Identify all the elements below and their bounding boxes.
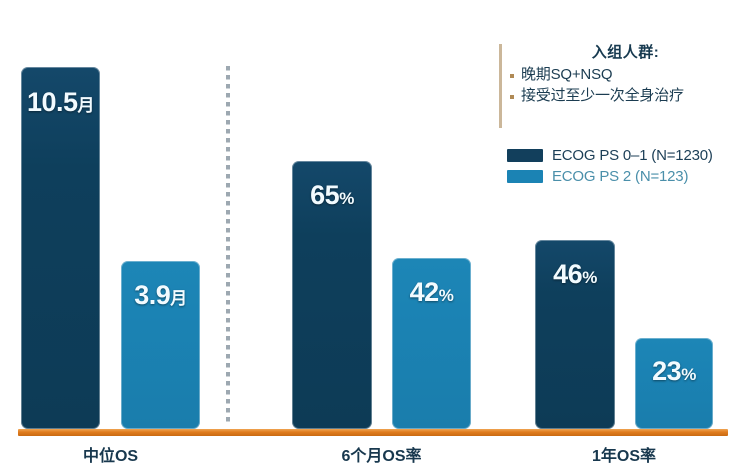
- annotation-bullet-text: 晚期SQ+NSQ: [521, 65, 612, 85]
- legend-item-ps2[interactable]: ECOG PS 2 (N=123): [507, 167, 713, 185]
- annotation-box: 入组人群: 晚期SQ+NSQ 接受过至少一次全身治疗: [499, 44, 741, 128]
- bar-value-unit: 月: [170, 289, 187, 308]
- bar-value-label: 3.9月: [121, 282, 200, 309]
- annotation-title: 入组人群:: [510, 44, 741, 63]
- bar-value-label: 42%: [392, 279, 471, 306]
- category-label-median-os: 中位OS: [21, 442, 200, 466]
- bar-value-unit: %: [439, 286, 454, 305]
- bar-median-os-ps2: 3.9月: [121, 261, 200, 429]
- legend-swatch-icon: [507, 149, 543, 162]
- bar-value-label: 46%: [535, 261, 615, 288]
- bullet-dot-icon: [510, 95, 514, 99]
- bar-value-unit: 月: [78, 96, 95, 115]
- bar-value-number: 42: [410, 277, 439, 307]
- bar-value-number: 3.9: [134, 280, 170, 310]
- bar-1year-os-ps01: 46%: [535, 240, 615, 429]
- legend-label: ECOG PS 0–1 (N=1230): [552, 147, 713, 164]
- bar-value-number: 23: [652, 356, 681, 386]
- chart-canvas: 10.5月 3.9月 65% 42% 46% 23% 中位OS 6个月OS率 1…: [0, 0, 746, 476]
- bar-value-unit: %: [681, 365, 696, 384]
- bar-1year-os-ps2: 23%: [635, 338, 713, 429]
- legend-label: ECOG PS 2 (N=123): [552, 168, 688, 185]
- chart-legend: ECOG PS 0–1 (N=1230) ECOG PS 2 (N=123): [507, 146, 713, 188]
- category-label-6month-os: 6个月OS率: [292, 442, 471, 466]
- bar-median-os-ps01: 10.5月: [21, 67, 100, 429]
- bullet-dot-icon: [510, 74, 514, 78]
- legend-item-ps01[interactable]: ECOG PS 0–1 (N=1230): [507, 146, 713, 164]
- legend-swatch-icon: [507, 170, 543, 183]
- annotation-bullet: 晚期SQ+NSQ: [510, 65, 741, 85]
- bar-value-unit: %: [339, 189, 354, 208]
- category-label-1year-os: 1年OS率: [535, 442, 713, 466]
- annotation-bullet: 接受过至少一次全身治疗: [510, 86, 741, 106]
- bar-value-label: 10.5月: [21, 89, 100, 116]
- bar-value-number: 10.5: [27, 87, 78, 117]
- group-divider-dotted-line: [226, 66, 230, 426]
- bar-value-label: 23%: [635, 358, 713, 385]
- bar-6month-os-ps2: 42%: [392, 258, 471, 429]
- bar-value-number: 46: [553, 259, 582, 289]
- bar-value-number: 65: [310, 180, 339, 210]
- bar-6month-os-ps01: 65%: [292, 161, 372, 429]
- annotation-bullet-text: 接受过至少一次全身治疗: [521, 86, 684, 106]
- x-axis-line: [18, 429, 728, 436]
- bar-value-unit: %: [582, 268, 597, 287]
- bar-value-label: 65%: [292, 182, 372, 209]
